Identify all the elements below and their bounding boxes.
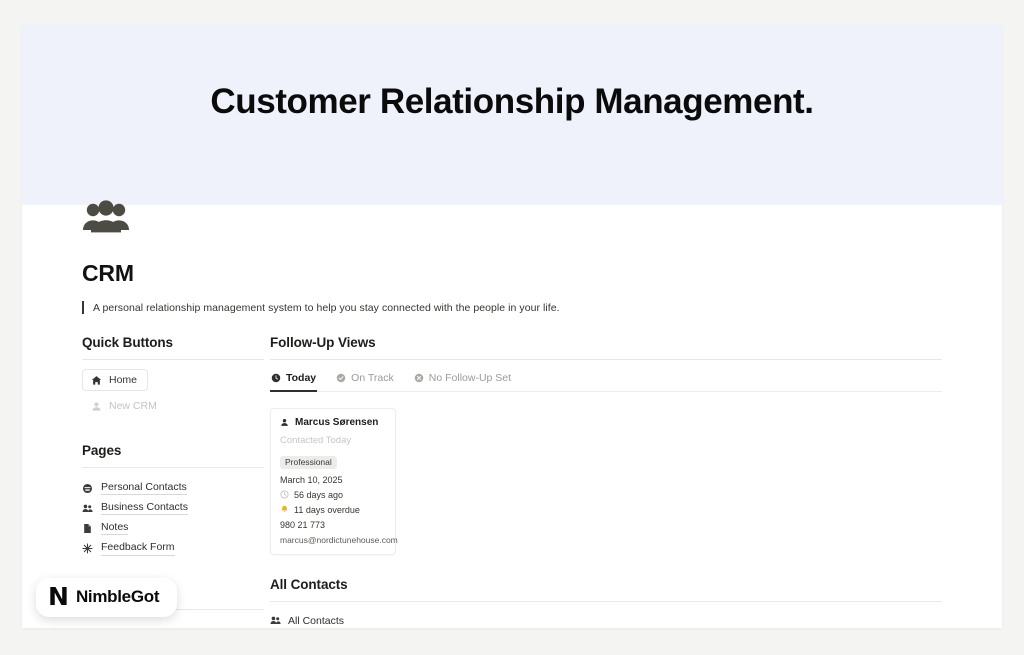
contact-card-area: Marcus Sørensen Contacted Today Professi…	[270, 408, 942, 555]
contact-status: Contacted Today	[280, 435, 386, 446]
follow-up-heading: Follow-Up Views	[270, 335, 942, 350]
people-pair-icon	[270, 615, 281, 626]
pages-block: Pages P	[82, 443, 264, 559]
callout-text: A personal relationship management syste…	[93, 302, 560, 314]
quick-buttons-list: Home	[82, 369, 264, 417]
tab-no-follow-up-set[interactable]: No Follow-Up Set	[413, 368, 512, 392]
page-title: Customer Relationship Management.	[22, 82, 1002, 122]
contact-elapsed-row: 56 days ago	[280, 490, 386, 500]
callout: A personal relationship management syste…	[82, 301, 560, 314]
contact-elapsed: 56 days ago	[294, 490, 343, 500]
all-contacts-heading: All Contacts	[270, 577, 942, 592]
contact-card[interactable]: Marcus Sørensen Contacted Today Professi…	[270, 408, 396, 555]
screenshot-root: Customer Relationship Management. CRM A …	[0, 0, 1024, 655]
follow-up-tabs: Today On Track	[270, 368, 942, 392]
document-body: CRM A personal relationship management s…	[22, 205, 1002, 628]
page-card: Customer Relationship Management. CRM A …	[22, 25, 1002, 628]
tab-no-follow-up-set-label: No Follow-Up Set	[429, 372, 511, 384]
home-icon	[91, 375, 102, 386]
quick-button-row: New CRM	[82, 395, 264, 417]
contact-date: March 10, 2025	[280, 475, 343, 485]
quick-button-new-crm[interactable]: New CRM	[82, 395, 168, 417]
quick-buttons-heading: Quick Buttons	[82, 335, 264, 350]
clock-outline-icon	[280, 490, 289, 499]
main-column: Follow-Up Views	[270, 335, 942, 628]
sidebar-item-feedback-form[interactable]: Feedback Form	[82, 538, 264, 558]
all-contacts-row-label: All Contacts	[288, 615, 344, 627]
sidebar-item-business-contacts[interactable]: Business Contacts	[82, 498, 264, 518]
brand-name: NimbleGot	[76, 587, 159, 607]
sidebar-item-label: Business Contacts	[101, 501, 188, 515]
snowflake-icon	[82, 543, 93, 554]
divider	[270, 359, 942, 360]
tab-today-label: Today	[286, 372, 316, 384]
all-contacts-row[interactable]: All Contacts	[270, 615, 942, 627]
sidebar-item-personal-contacts[interactable]: Personal Contacts	[82, 478, 264, 498]
divider	[82, 467, 264, 468]
sidebar-item-notes[interactable]: Notes	[82, 518, 264, 538]
doc-title: CRM	[82, 260, 134, 287]
pages-list: Personal Contacts	[82, 478, 264, 559]
divider	[270, 601, 942, 602]
tab-today[interactable]: Today	[270, 368, 317, 392]
sidebar-item-label: Personal Contacts	[101, 481, 187, 495]
contact-overdue: 11 days overdue	[294, 505, 360, 515]
bell-icon	[280, 505, 289, 514]
people-group-icon	[82, 200, 130, 238]
brand-badge[interactable]: N NimbleGot	[36, 578, 177, 617]
quick-button-row: Home	[82, 369, 264, 391]
contact-email[interactable]: marcus@nordictunehouse.com	[280, 535, 386, 545]
sidebar-item-label: Feedback Form	[101, 541, 175, 555]
contact-overdue-row: 11 days overdue	[280, 505, 386, 515]
person-icon	[280, 418, 289, 427]
tab-on-track-label: On Track	[351, 372, 394, 384]
sidebar-item-label: Notes	[101, 521, 128, 535]
quick-button-home-label: Home	[109, 374, 137, 386]
callout-bar	[82, 301, 84, 314]
contact-phone: 980 21 773	[280, 520, 325, 530]
smiley-face-icon	[82, 483, 93, 494]
contact-phone-row: 980 21 773	[280, 520, 386, 530]
pages-heading: Pages	[82, 443, 264, 458]
people-pair-icon	[82, 503, 93, 514]
clock-icon	[271, 373, 281, 383]
tab-on-track[interactable]: On Track	[335, 368, 395, 392]
document-icon	[82, 523, 93, 534]
nimblegot-logo-icon: N	[48, 586, 68, 609]
check-circle-icon	[336, 373, 346, 383]
contact-name-row: Marcus Sørensen	[280, 417, 386, 428]
quick-buttons-block: Quick Buttons Home	[82, 335, 264, 417]
all-contacts-block: All Contacts All Co	[270, 577, 942, 629]
quick-button-new-crm-label: New CRM	[109, 400, 157, 412]
divider	[82, 359, 264, 360]
hero-banner: Customer Relationship Management.	[22, 25, 1002, 205]
contact-tag-badge: Professional	[280, 456, 337, 469]
follow-up-views-block: Follow-Up Views	[270, 335, 942, 555]
quick-button-home[interactable]: Home	[82, 369, 148, 391]
x-circle-icon	[414, 373, 424, 383]
contact-name: Marcus Sørensen	[295, 417, 378, 428]
contact-date-row: March 10, 2025	[280, 475, 386, 485]
person-icon	[91, 401, 102, 412]
